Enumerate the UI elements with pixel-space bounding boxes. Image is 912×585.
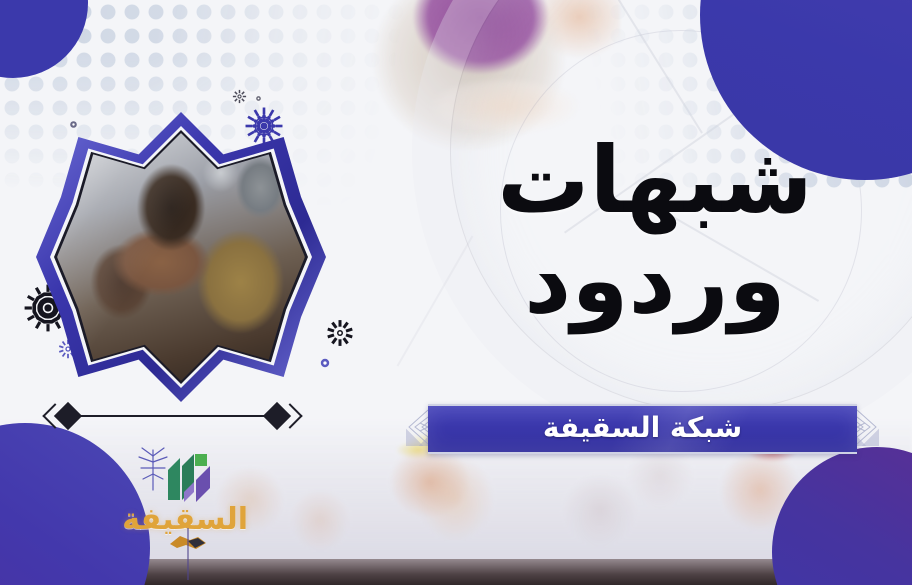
- mandala-icon: [232, 89, 247, 108]
- star-photo-frame: [36, 112, 326, 402]
- poster-title: شبهات وردود: [440, 128, 870, 334]
- divider-bar: [66, 415, 279, 417]
- saqifa-logo-mark: [164, 450, 216, 508]
- title-line-1: شبهات: [440, 128, 870, 234]
- banner-label: شبكة السقيفة: [428, 404, 857, 450]
- mandala-icon: [254, 88, 263, 107]
- decorative-divider: [40, 404, 305, 428]
- saqifa-logo: السقيفة: [128, 446, 248, 558]
- title-line-2: وردود: [440, 228, 870, 334]
- logo-stem: [187, 528, 189, 580]
- poster-canvas: شبهات وردود: [0, 0, 912, 585]
- mandala-icon: [325, 318, 355, 352]
- star-frame-gloss: [57, 133, 305, 381]
- network-banner: شبكة السقيفة: [410, 404, 875, 450]
